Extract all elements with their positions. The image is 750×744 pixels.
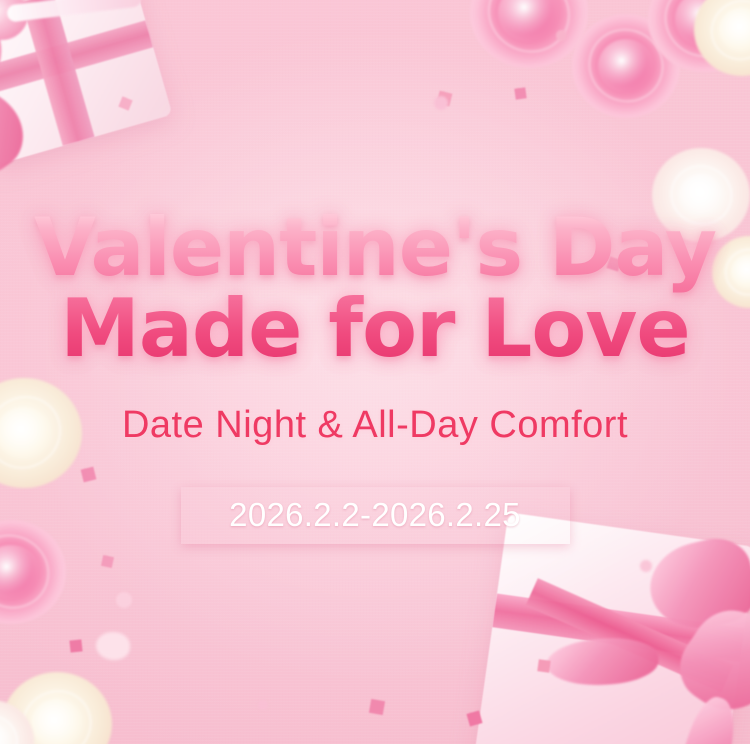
banner-content: Valentine's Day Made for Love Date Night… bbox=[0, 0, 750, 744]
headline-line-2: Made for Love bbox=[34, 291, 716, 368]
banner-subtitle: Date Night & All-Day Comfort bbox=[122, 404, 628, 447]
promo-date-text: 2026.2.2-2026.2.25 bbox=[229, 496, 521, 534]
valentines-promo-banner: Valentine's Day Made for Love Date Night… bbox=[0, 0, 750, 744]
promo-date-badge: 2026.2.2-2026.2.25 bbox=[181, 487, 570, 544]
page-title: Valentine's Day Made for Love bbox=[34, 210, 716, 368]
headline-line-1: Valentine's Day bbox=[34, 210, 716, 287]
